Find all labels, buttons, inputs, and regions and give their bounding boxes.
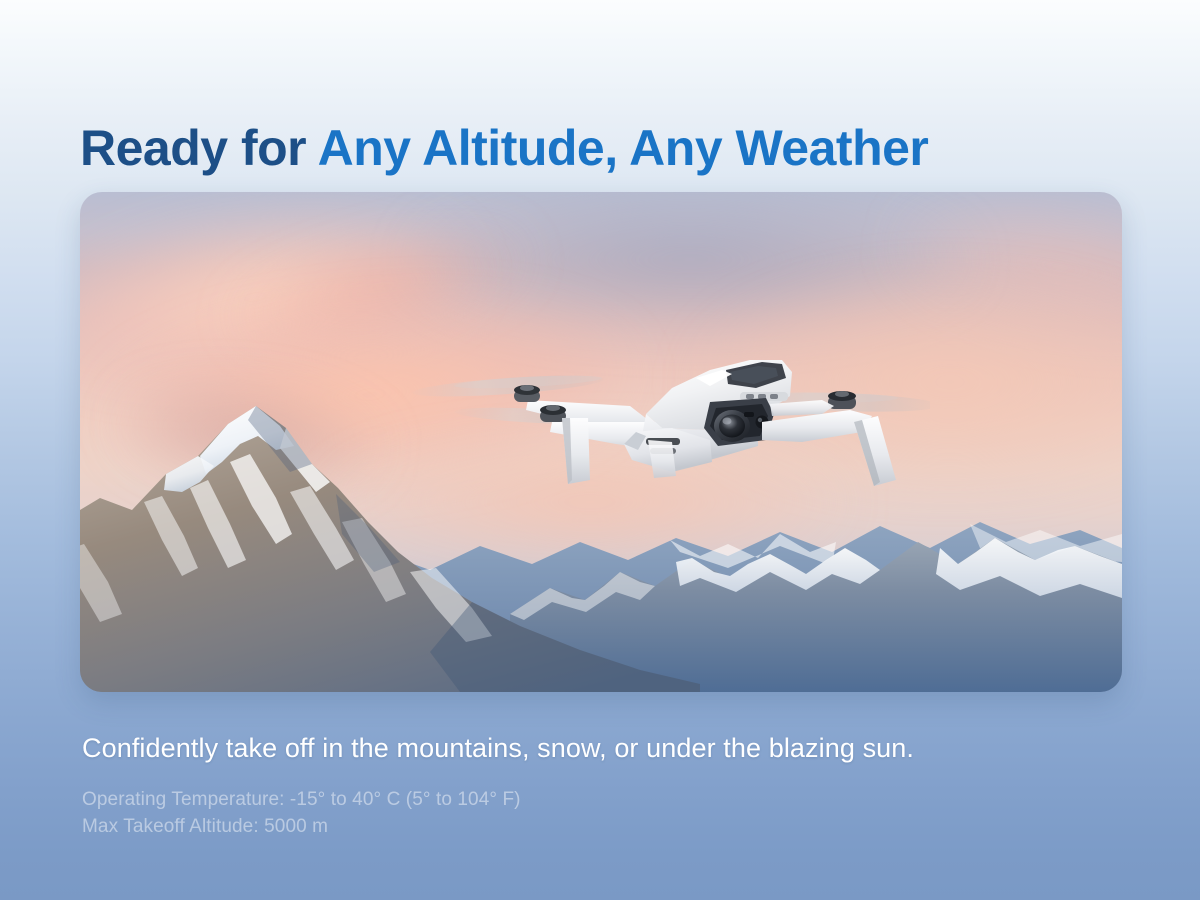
spec-max-takeoff-altitude: Max Takeoff Altitude: 5000 m — [82, 813, 521, 840]
page-title-part-accent: Any Altitude, Any Weather — [318, 120, 929, 176]
slide-root: Ready for Any Altitude, Any Weather — [0, 0, 1200, 900]
page-title: Ready for Any Altitude, Any Weather — [80, 120, 928, 178]
photo-caption: Confidently take off in the mountains, s… — [82, 733, 914, 764]
spec-operating-temperature: Operating Temperature: -15° to 40° C (5°… — [82, 786, 521, 813]
spec-list: Operating Temperature: -15° to 40° C (5°… — [82, 786, 521, 840]
hero-photo — [80, 192, 1122, 692]
page-title-part-primary: Ready for — [80, 120, 318, 176]
drone-illustration — [410, 344, 930, 504]
